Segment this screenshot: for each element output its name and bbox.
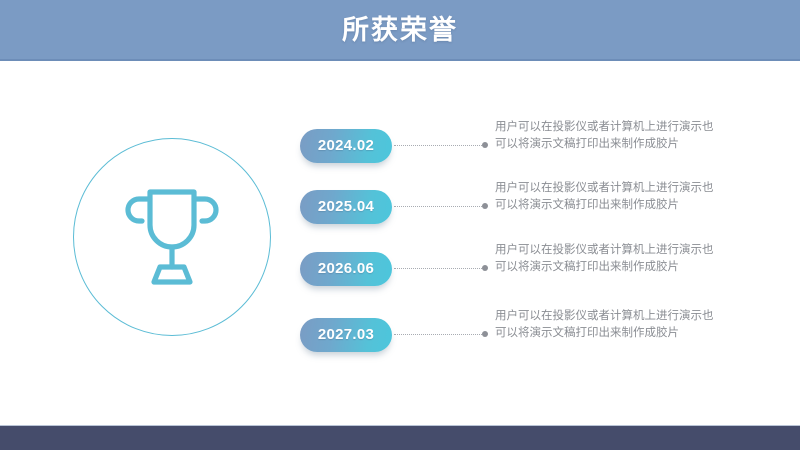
year-badge-label: 2025.04 [300,190,392,224]
connector-dot [482,203,488,209]
year-badge-label: 2027.03 [300,318,392,352]
description-line-1: 用户可以在投影仪或者计算机上进行演示也 [495,307,721,324]
item-description: 用户可以在投影仪或者计算机上进行演示也 可以将演示文稿打印出来制作成胶片 [495,179,721,213]
description-line-1: 用户可以在投影仪或者计算机上进行演示也 [495,118,721,135]
description-line-2: 可以将演示文稿打印出来制作成胶片 [495,196,721,213]
connector-line [394,145,484,147]
description-line-2: 可以将演示文稿打印出来制作成胶片 [495,258,721,275]
list-item[interactable]: 2026.06 用户可以在投影仪或者计算机上进行演示也 可以将演示文稿打印出来制… [300,252,720,292]
item-description: 用户可以在投影仪或者计算机上进行演示也 可以将演示文稿打印出来制作成胶片 [495,241,721,275]
year-badge-label: 2026.06 [300,252,392,286]
connector-dot [482,331,488,337]
year-badge[interactable]: 2027.03 [300,318,392,352]
timeline-list: 2024.02 用户可以在投影仪或者计算机上进行演示也 可以将演示文稿打印出来制… [0,0,800,450]
description-line-2: 可以将演示文稿打印出来制作成胶片 [495,324,721,341]
description-line-2: 可以将演示文稿打印出来制作成胶片 [495,135,721,152]
connector-line [394,268,484,270]
slide-canvas: 所获荣誉 2024.02 用户可以在投影仪 [0,0,800,450]
description-line-1: 用户可以在投影仪或者计算机上进行演示也 [495,241,721,258]
list-item[interactable]: 2027.03 用户可以在投影仪或者计算机上进行演示也 可以将演示文稿打印出来制… [300,318,720,358]
connector-dot [482,142,488,148]
connector-line [394,334,484,336]
item-description: 用户可以在投影仪或者计算机上进行演示也 可以将演示文稿打印出来制作成胶片 [495,118,721,152]
item-description: 用户可以在投影仪或者计算机上进行演示也 可以将演示文稿打印出来制作成胶片 [495,307,721,341]
footer-bar [0,425,800,450]
year-badge[interactable]: 2025.04 [300,190,392,224]
year-badge[interactable]: 2026.06 [300,252,392,286]
description-line-1: 用户可以在投影仪或者计算机上进行演示也 [495,179,721,196]
connector-line [394,206,484,208]
year-badge-label: 2024.02 [300,129,392,163]
connector-dot [482,265,488,271]
list-item[interactable]: 2025.04 用户可以在投影仪或者计算机上进行演示也 可以将演示文稿打印出来制… [300,190,720,230]
list-item[interactable]: 2024.02 用户可以在投影仪或者计算机上进行演示也 可以将演示文稿打印出来制… [300,129,720,169]
year-badge[interactable]: 2024.02 [300,129,392,163]
